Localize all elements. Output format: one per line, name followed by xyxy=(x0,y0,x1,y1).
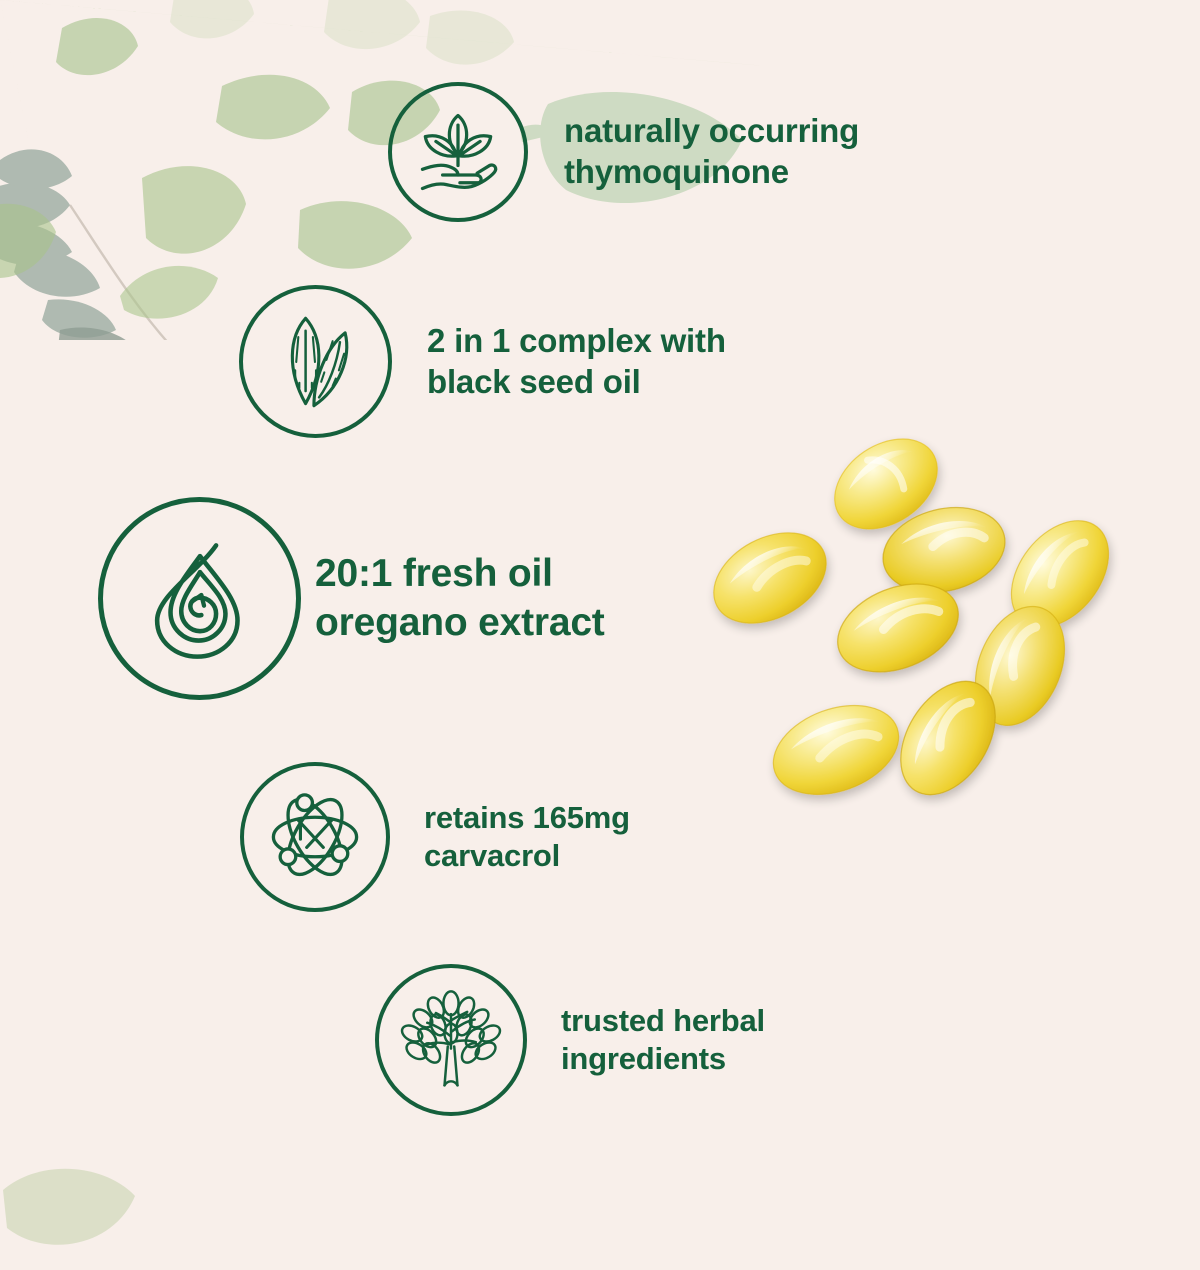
infographic-canvas: naturally occurring thymoquinone xyxy=(0,0,1200,1200)
feature-label: 20:1 fresh oil oregano extract xyxy=(315,550,605,647)
leaf-decoration-single xyxy=(110,240,230,330)
yellow-softgel-capsules xyxy=(690,398,1150,838)
icon-circle-black-seed xyxy=(239,285,392,438)
feature-label: trusted herbal ingredients xyxy=(561,1002,765,1079)
oil-droplet-spiral-icon xyxy=(133,532,267,666)
feature-label: naturally occurring thymoquinone xyxy=(564,111,859,193)
watercolor-leaves-decoration-lower xyxy=(0,150,250,390)
leaf-decoration-bottom xyxy=(0,1150,155,1270)
feature-label: 2 in 1 complex with black seed oil xyxy=(427,321,726,403)
atom-molecule-icon xyxy=(263,785,367,889)
hand-holding-plant-icon xyxy=(410,104,506,200)
feature-row-naturally-occurring-thymoquinone: naturally occurring thymoquinone xyxy=(388,82,859,222)
feature-row-retains-165mg-carvacrol: retains 165mg carvacrol xyxy=(240,762,630,912)
feature-row-trusted-herbal-ingredients: trusted herbal ingredients xyxy=(375,964,765,1116)
icon-circle-oil-droplet xyxy=(98,497,301,700)
icon-circle-atom xyxy=(240,762,390,912)
black-seed-icon xyxy=(264,310,368,414)
feature-row-2-in-1-complex-black-seed-oil: 2 in 1 complex with black seed oil xyxy=(239,285,726,438)
icon-circle-hand-holding-plant xyxy=(388,82,528,222)
feature-label: retains 165mg carvacrol xyxy=(424,799,630,876)
tree-icon xyxy=(397,986,505,1094)
feature-row-20-1-fresh-oil-oregano-extract: 20:1 fresh oil oregano extract xyxy=(98,497,605,700)
icon-circle-tree xyxy=(375,964,527,1116)
